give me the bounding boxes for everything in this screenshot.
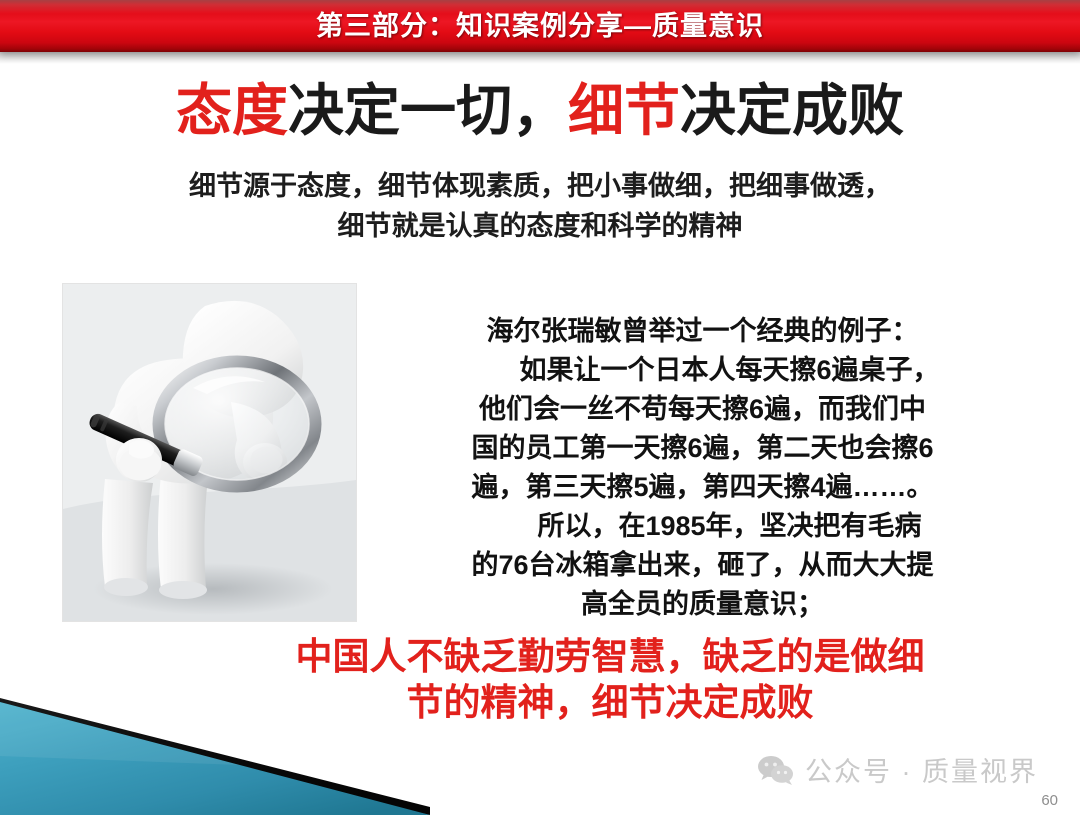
body-line: 的76台冰箱拿出来，砸了，从而大大提 (430, 546, 975, 585)
subtitle: 细节源于态度，细节体现素质，把小事做细，把细事做透， 细节就是认真的态度和科学的… (120, 166, 960, 246)
figure-graphic (63, 284, 356, 621)
body-line: 他们会一丝不苟每天擦6遍，而我们中 (430, 390, 975, 429)
body-line: 高全员的质量意识； (430, 585, 975, 624)
title-segment-detail: 细节 (568, 79, 680, 142)
illustration-3d-figure-with-magnifier (62, 283, 357, 622)
corner-decoration-wedge (0, 668, 430, 815)
subtitle-line: 细节源于态度，细节体现素质，把小事做细，把细事做透， (120, 166, 960, 206)
page-number: 60 (1041, 792, 1058, 809)
subtitle-line: 细节就是认真的态度和科学的精神 (120, 206, 960, 246)
wechat-icon (756, 755, 796, 785)
body-line: 遍，第三天擦5遍，第四天擦4遍……。 (430, 468, 975, 507)
watermark-text: 公众号 · 质量视界 (805, 750, 1038, 789)
body-line: 国的员工第一天擦6遍，第二天也会擦6 (430, 429, 975, 468)
body-line: 如果让一个日本人每天擦6遍桌子， (430, 351, 975, 390)
watermark: 公众号 · 质量视界 (756, 750, 1038, 789)
header-title: 第三部分：知识案例分享—质量意识 (0, 4, 1080, 48)
header-shadow (0, 52, 1080, 64)
body-line: 海尔张瑞敏曾举过一个经典的例子： (430, 312, 975, 351)
title-segment-decides-success: 决定成败 (680, 79, 904, 142)
page-title: 态度决定一切，细节决定成败 (0, 78, 1080, 144)
title-segment-decides-all: 决定一切， (288, 79, 568, 142)
body-paragraph: 海尔张瑞敏曾举过一个经典的例子： 如果让一个日本人每天擦6遍桌子， 他们会一丝不… (430, 312, 975, 624)
title-segment-attitude: 态度 (176, 79, 288, 142)
body-line: 所以，在1985年，坚决把有毛病 (430, 507, 975, 546)
slide-canvas: 第三部分：知识案例分享—质量意识 态度决定一切，细节决定成败 细节源于态度，细节… (0, 0, 1080, 815)
